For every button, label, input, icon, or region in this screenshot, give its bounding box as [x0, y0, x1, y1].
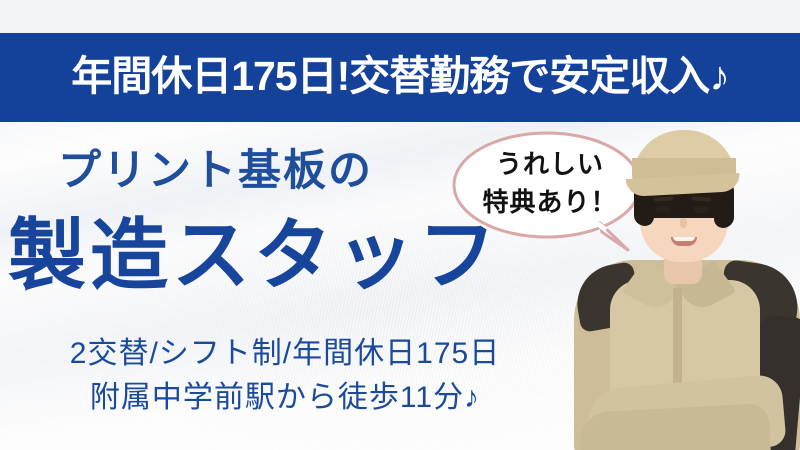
headline-banner: 年間休日175日!交替勤務で安定収入♪ — [0, 33, 800, 122]
job-ad-banner: 年間休日175日!交替勤務で安定収入♪ プリント基板の 製造スタッフ 2交替/シ… — [0, 0, 800, 450]
nose — [680, 218, 687, 228]
headline-main: 製造スタッフ — [8, 213, 500, 299]
banner-text: 年間休日175日!交替勤務で安定収入♪ — [71, 56, 729, 100]
detail-text-block: 2交替/シフト制/年間休日175日 附属中学前駅から徒歩11分♪ — [0, 332, 570, 421]
top-white-strip — [0, 0, 800, 33]
detail-line-2: 附属中学前駅から徒歩11分♪ — [0, 376, 570, 420]
worker-photo — [570, 120, 800, 450]
eye-right — [694, 206, 709, 213]
headline-kicker: プリント基板の — [58, 148, 373, 195]
detail-line-1: 2交替/シフト制/年間休日175日 — [0, 332, 570, 376]
eye-left — [656, 206, 671, 213]
teeth — [673, 237, 695, 241]
